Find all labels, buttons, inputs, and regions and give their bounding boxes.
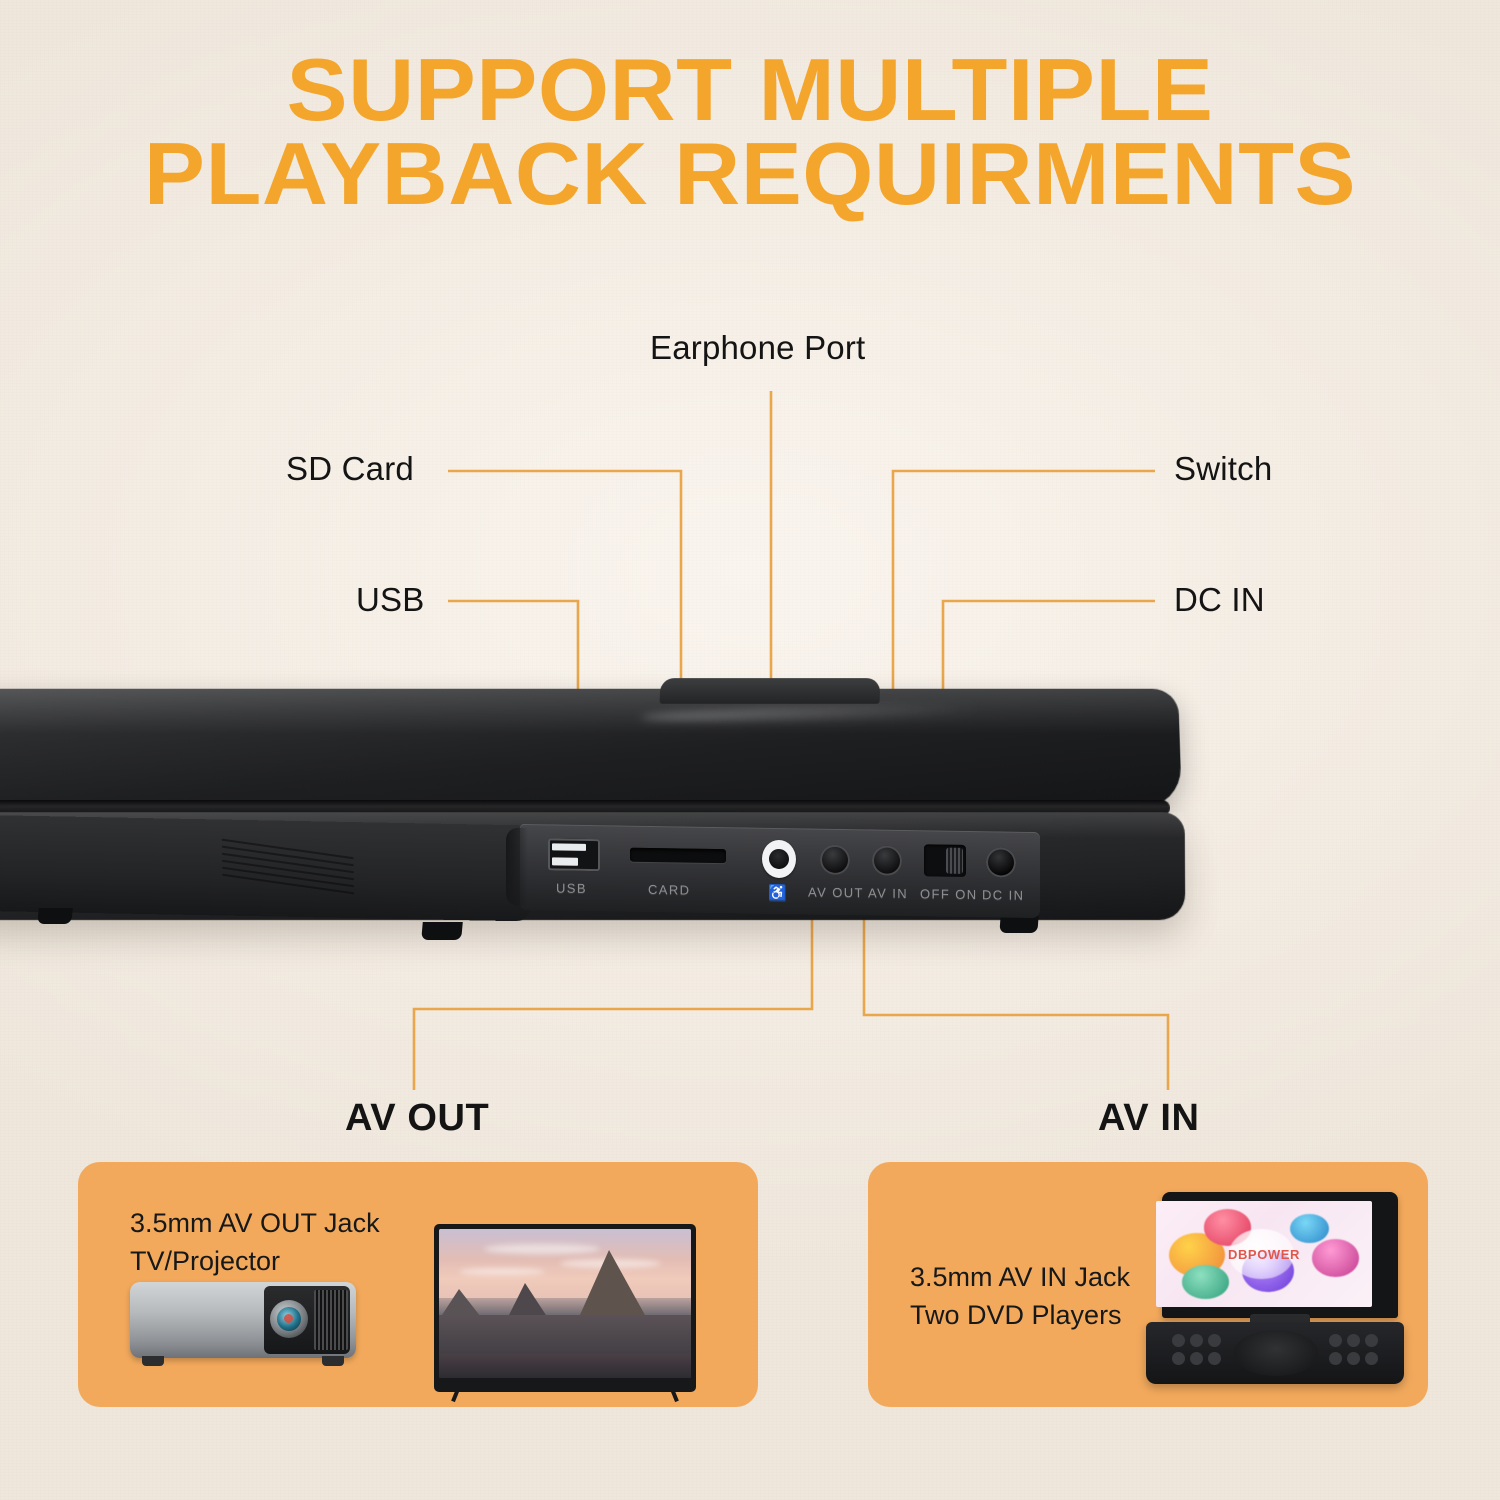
callout-label-switch: Switch xyxy=(1174,450,1272,488)
av-in-jack-icon[interactable] xyxy=(872,845,902,875)
av-in-info-card: 3.5mm AV IN Jack Two DVD Players DBPOWER xyxy=(868,1162,1428,1407)
usb-port-icon[interactable] xyxy=(548,838,600,871)
device-foot xyxy=(999,916,1038,933)
power-switch-icon[interactable] xyxy=(924,844,966,877)
device-lid xyxy=(0,689,1182,808)
av-out-card-line-2: TV/Projector xyxy=(130,1242,280,1280)
device-foot xyxy=(421,922,463,940)
port-label-dc-in: DC IN xyxy=(982,887,1024,903)
device-foot xyxy=(37,908,73,924)
port-label-card: CARD xyxy=(648,882,690,898)
port-label-usb: USB xyxy=(556,880,587,895)
title-line-2: PLAYBACK REQUIRMENTS xyxy=(0,132,1500,216)
projector-illustration xyxy=(130,1282,356,1374)
portable-dvd-player-illustration: DBPOWER xyxy=(1146,1192,1404,1384)
port-label-av-out: AV OUT xyxy=(808,884,864,900)
dvd-screen-brand: DBPOWER xyxy=(1156,1247,1372,1262)
callout-label-av-out: AV OUT xyxy=(345,1097,489,1140)
infographic-canvas: SUPPORT MULTIPLE PLAYBACK REQUIRMENTS SD… xyxy=(0,0,1500,1500)
av-out-jack-icon[interactable] xyxy=(820,845,850,875)
tv-illustration xyxy=(434,1224,696,1392)
device-handle xyxy=(660,678,881,704)
projector-vent-icon xyxy=(314,1290,348,1350)
headphone-glyph-icon: ♿ xyxy=(768,884,788,902)
callout-label-earphone-port: Earphone Port xyxy=(650,329,865,367)
callout-label-av-in: AV IN xyxy=(1098,1097,1200,1140)
av-in-card-line-2: Two DVD Players xyxy=(910,1296,1122,1334)
port-label-switch: OFF ON xyxy=(920,886,978,902)
disc-tray-icon xyxy=(1234,1330,1318,1376)
av-in-card-line-1: 3.5mm AV IN Jack xyxy=(910,1258,1130,1296)
callout-label-usb: USB xyxy=(356,581,424,619)
av-out-card-line-1: 3.5mm AV OUT Jack xyxy=(130,1204,380,1242)
port-panel: USB CARD ♿ AV OUT AV IN OFF ON DC IN xyxy=(520,824,1040,918)
title-line-1: SUPPORT MULTIPLE xyxy=(0,48,1500,132)
sd-card-slot-icon[interactable] xyxy=(630,848,726,864)
dvd-screen: DBPOWER xyxy=(1156,1201,1372,1307)
port-label-av-in: AV IN xyxy=(868,885,908,901)
page-title: SUPPORT MULTIPLE PLAYBACK REQUIRMENTS xyxy=(0,48,1500,217)
callout-label-dc-in: DC IN xyxy=(1174,581,1265,619)
dc-in-jack-icon[interactable] xyxy=(986,847,1016,877)
callout-label-sd-card: SD Card xyxy=(286,450,414,488)
earphone-port-icon[interactable] xyxy=(762,840,796,879)
av-out-info-card: 3.5mm AV OUT Jack TV/Projector xyxy=(78,1162,758,1407)
